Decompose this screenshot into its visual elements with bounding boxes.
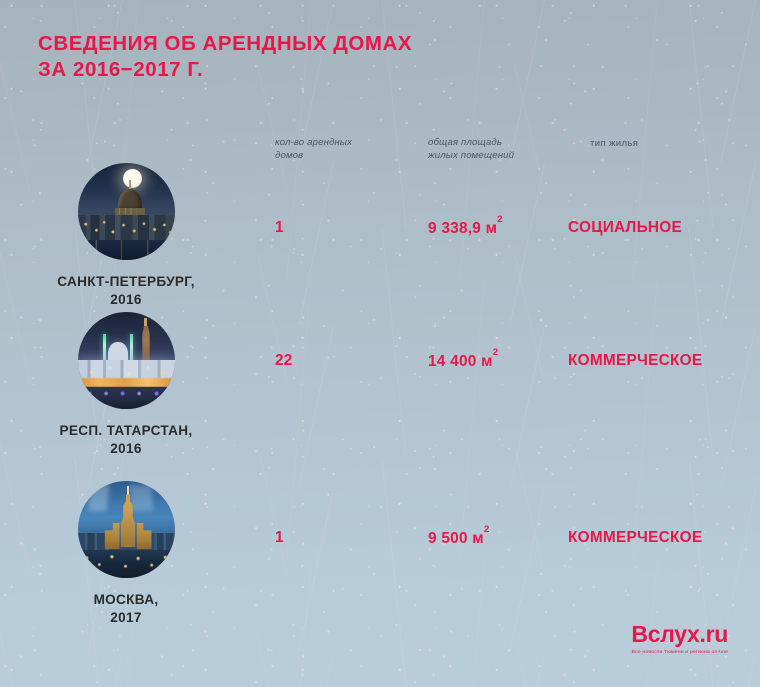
value-count: 1 (275, 529, 395, 547)
saint-petersburg-night-cathedral-photo (78, 163, 175, 260)
column-header-type: тип жилья (590, 138, 638, 151)
city-label: МОСКВА, 2017 (28, 591, 224, 627)
moscow-skyscraper-dusk-photo (78, 481, 175, 578)
value-area: 9 338,9 м2 (428, 219, 578, 238)
value-housing-type: КОММЕРЧЕСКОЕ (568, 352, 758, 370)
value-area-number: 14 400 м (428, 353, 493, 370)
value-housing-type: КОММЕРЧЕСКОЕ (568, 529, 758, 547)
city-block: РЕСП. ТАТАРСТАН, 2016 (28, 312, 224, 458)
value-area: 9 500 м2 (428, 529, 578, 548)
kazan-kremlin-night-photo (78, 312, 175, 409)
value-count: 22 (275, 352, 395, 370)
column-header-count: кол-во арендных домов (275, 137, 352, 162)
value-area-number: 9 338,9 м (428, 220, 497, 237)
value-area-exponent: 2 (493, 347, 499, 358)
value-area-exponent: 2 (484, 524, 490, 535)
value-housing-type: СОЦИАЛЬНОЕ (568, 219, 758, 237)
city-label: САНКТ-ПЕТЕРБУРГ, 2016 (28, 273, 224, 309)
logo-name: Вслух.ru (631, 622, 728, 647)
page-title: СВЕДЕНИЯ ОБ АРЕНДНЫХ ДОМАХ ЗА 2016−2017 … (38, 31, 412, 83)
city-block: МОСКВА, 2017 (28, 481, 224, 627)
value-area-number: 9 500 м (428, 530, 484, 547)
value-count: 1 (275, 219, 395, 237)
vsluh-logo[interactable]: Вслух.ru Все новости Тюмени и региона on… (631, 622, 728, 656)
value-area-exponent: 2 (497, 214, 503, 225)
value-area: 14 400 м2 (428, 352, 578, 371)
city-label: РЕСП. ТАТАРСТАН, 2016 (28, 422, 224, 458)
city-block: САНКТ-ПЕТЕРБУРГ, 2016 (28, 163, 224, 309)
column-header-area: общая площадь жилых помещений (428, 137, 514, 162)
logo-tagline: Все новости Тюмени и региона on-line (631, 648, 728, 656)
